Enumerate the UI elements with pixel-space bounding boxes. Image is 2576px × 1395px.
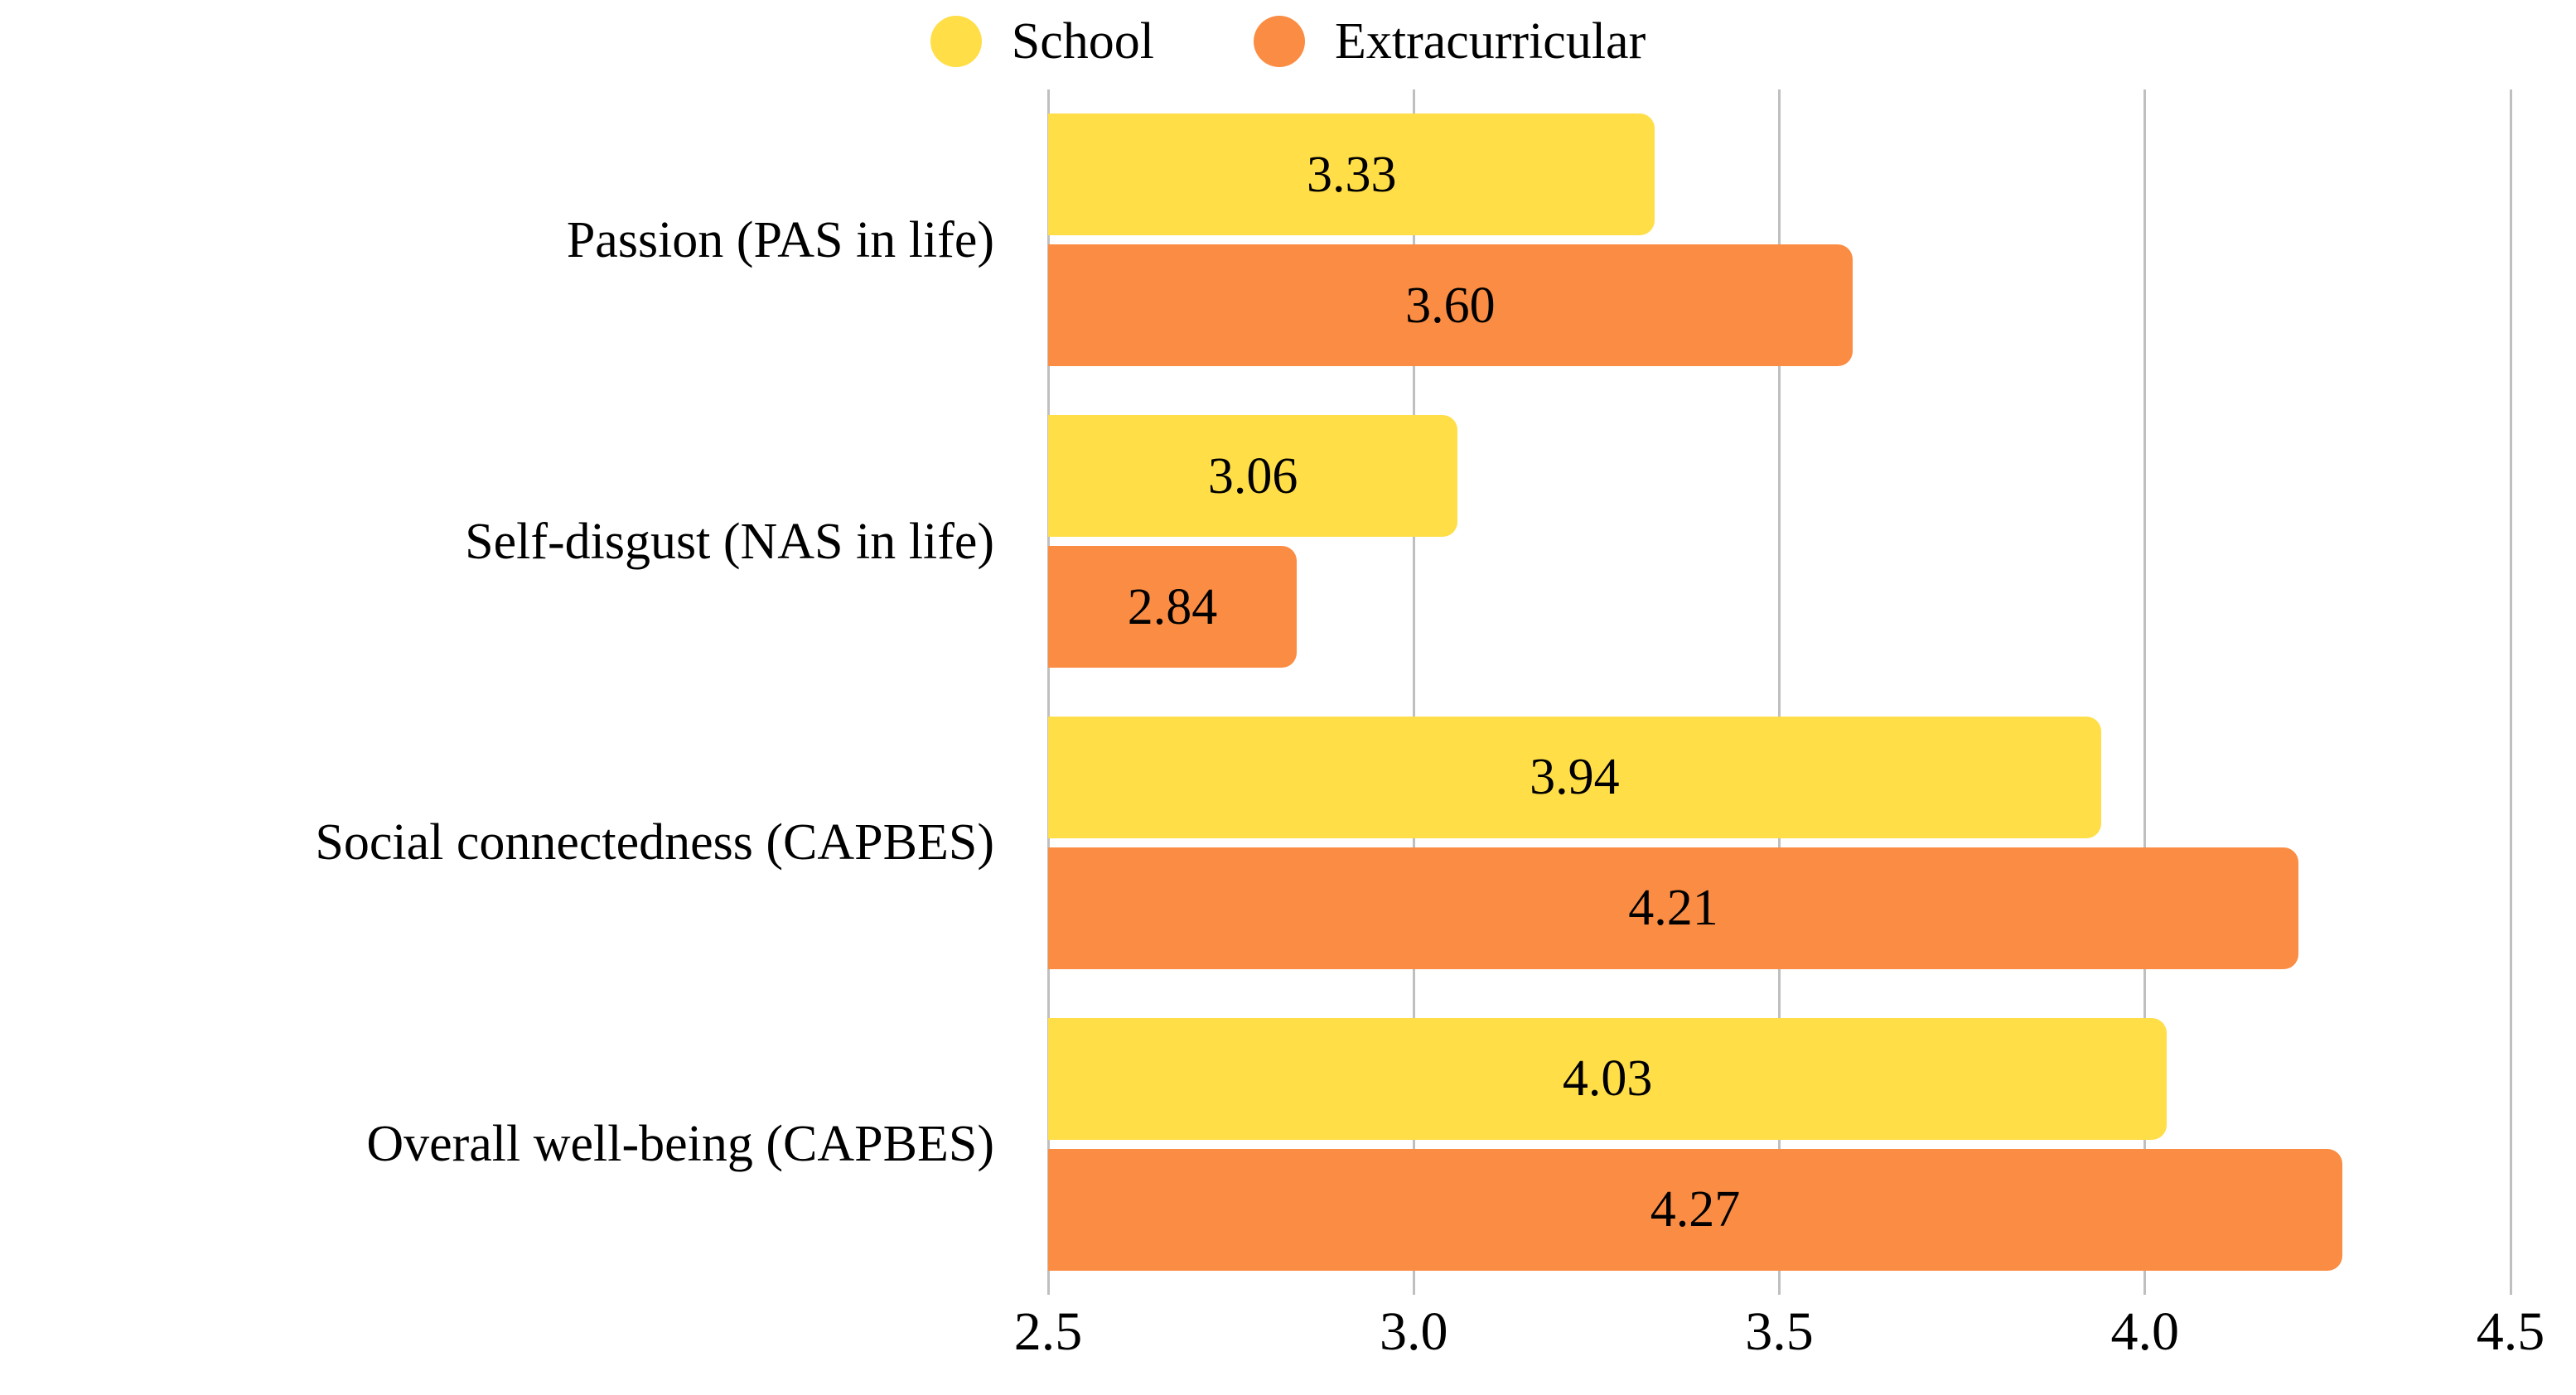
legend-label-school: School: [1012, 16, 1154, 67]
bar-value-extracurricular-overall-well-being-capbes: 4.27: [1650, 1184, 1741, 1235]
category-label-social-connectedness: Social connectedness (CAPBES): [315, 817, 994, 868]
bar-value-school-passion-pas-in-life: 3.33: [1307, 149, 1397, 200]
value-axis: 2.53.03.54.04.5: [0, 1305, 2576, 1395]
category-label-overall-well-being: Overall well-being (CAPBES): [366, 1118, 994, 1170]
legend-item-extracurricular[interactable]: Extracurricular: [1254, 16, 1646, 67]
x-tick-label-2-5: 2.5: [1014, 1305, 1083, 1359]
legend-swatch-extracurricular-circle-icon: [1254, 16, 1305, 67]
legend-item-school[interactable]: School: [930, 16, 1154, 67]
category-axis-labels: Passion (PAS in life) Self-disgust (NAS …: [0, 89, 1032, 1295]
chart-canvas: School Extracurricular Passion (PAS in l…: [0, 0, 2576, 1395]
chart-legend: School Extracurricular: [0, 0, 2576, 83]
bar-value-extracurricular-passion-pas-in-life: 3.60: [1405, 280, 1496, 331]
bar-value-school-self-disgust-nas-in-life: 3.06: [1208, 451, 1298, 502]
bar-value-school-social-connectedness-capbes: 3.94: [1530, 751, 1620, 803]
x-tick-label-3-5: 3.5: [1745, 1305, 1814, 1359]
bar-value-school-overall-well-being-capbes: 4.03: [1563, 1053, 1653, 1104]
plot-area: 3.333.603.062.843.944.214.034.27: [1048, 89, 2511, 1295]
category-label-passion: Passion (PAS in life): [567, 215, 994, 266]
legend-label-extracurricular: Extracurricular: [1335, 16, 1646, 67]
x-tick-label-3-0: 3.0: [1380, 1305, 1448, 1359]
bar-value-extracurricular-self-disgust-nas-in-life: 2.84: [1128, 582, 1218, 633]
bar-value-extracurricular-social-connectedness-capbes: 4.21: [1628, 882, 1718, 934]
gridline-4.5: [2510, 89, 2512, 1295]
legend-swatch-school-circle-icon: [930, 16, 982, 67]
x-tick-label-4-5: 4.5: [2477, 1305, 2545, 1359]
category-label-self-disgust: Self-disgust (NAS in life): [465, 516, 994, 567]
x-tick-label-4-0: 4.0: [2111, 1305, 2180, 1359]
